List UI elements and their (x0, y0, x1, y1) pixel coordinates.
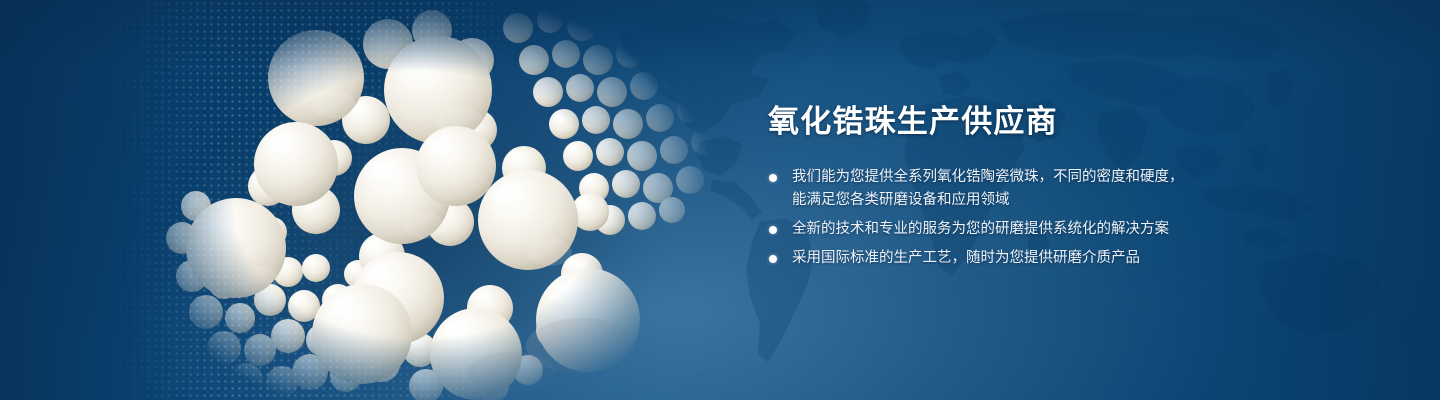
page-title: 氧化锆珠生产供应商 (768, 104, 1386, 140)
list-item: 采用国际标准的生产工艺，随时为您提供研磨介质产品 (766, 247, 1386, 270)
bullet-dot-icon (769, 226, 777, 234)
bead-cluster (120, 0, 760, 400)
hero-banner: 氧化锆珠生产供应商 我们能为您提供全系列氧化锆陶瓷微珠，不同的密度和硬度， 能满… (0, 0, 1440, 400)
list-item-line: 采用国际标准的生产工艺，随时为您提供研磨介质产品 (792, 247, 1386, 270)
list-item-line: 我们能为您提供全系列氧化锆陶瓷微珠，不同的密度和硬度， (792, 166, 1386, 189)
list-item: 全新的技术和专业的服务为您的研磨提供系统化的解决方案 (766, 218, 1386, 241)
product-photo-zirconia-beads (120, 0, 760, 400)
feature-list: 我们能为您提供全系列氧化锆陶瓷微珠，不同的密度和硬度， 能满足您各类研磨设备和应… (766, 166, 1386, 270)
list-item-line: 能满足您各类研磨设备和应用领域 (792, 189, 1386, 212)
bullet-dot-icon (769, 255, 777, 263)
bullet-dot-icon (769, 174, 777, 182)
list-item: 我们能为您提供全系列氧化锆陶瓷微珠，不同的密度和硬度， 能满足您各类研磨设备和应… (766, 166, 1386, 212)
list-item-line: 全新的技术和专业的服务为您的研磨提供系统化的解决方案 (792, 218, 1386, 241)
banner-copy: 氧化锆珠生产供应商 我们能为您提供全系列氧化锆陶瓷微珠，不同的密度和硬度， 能满… (766, 104, 1386, 270)
